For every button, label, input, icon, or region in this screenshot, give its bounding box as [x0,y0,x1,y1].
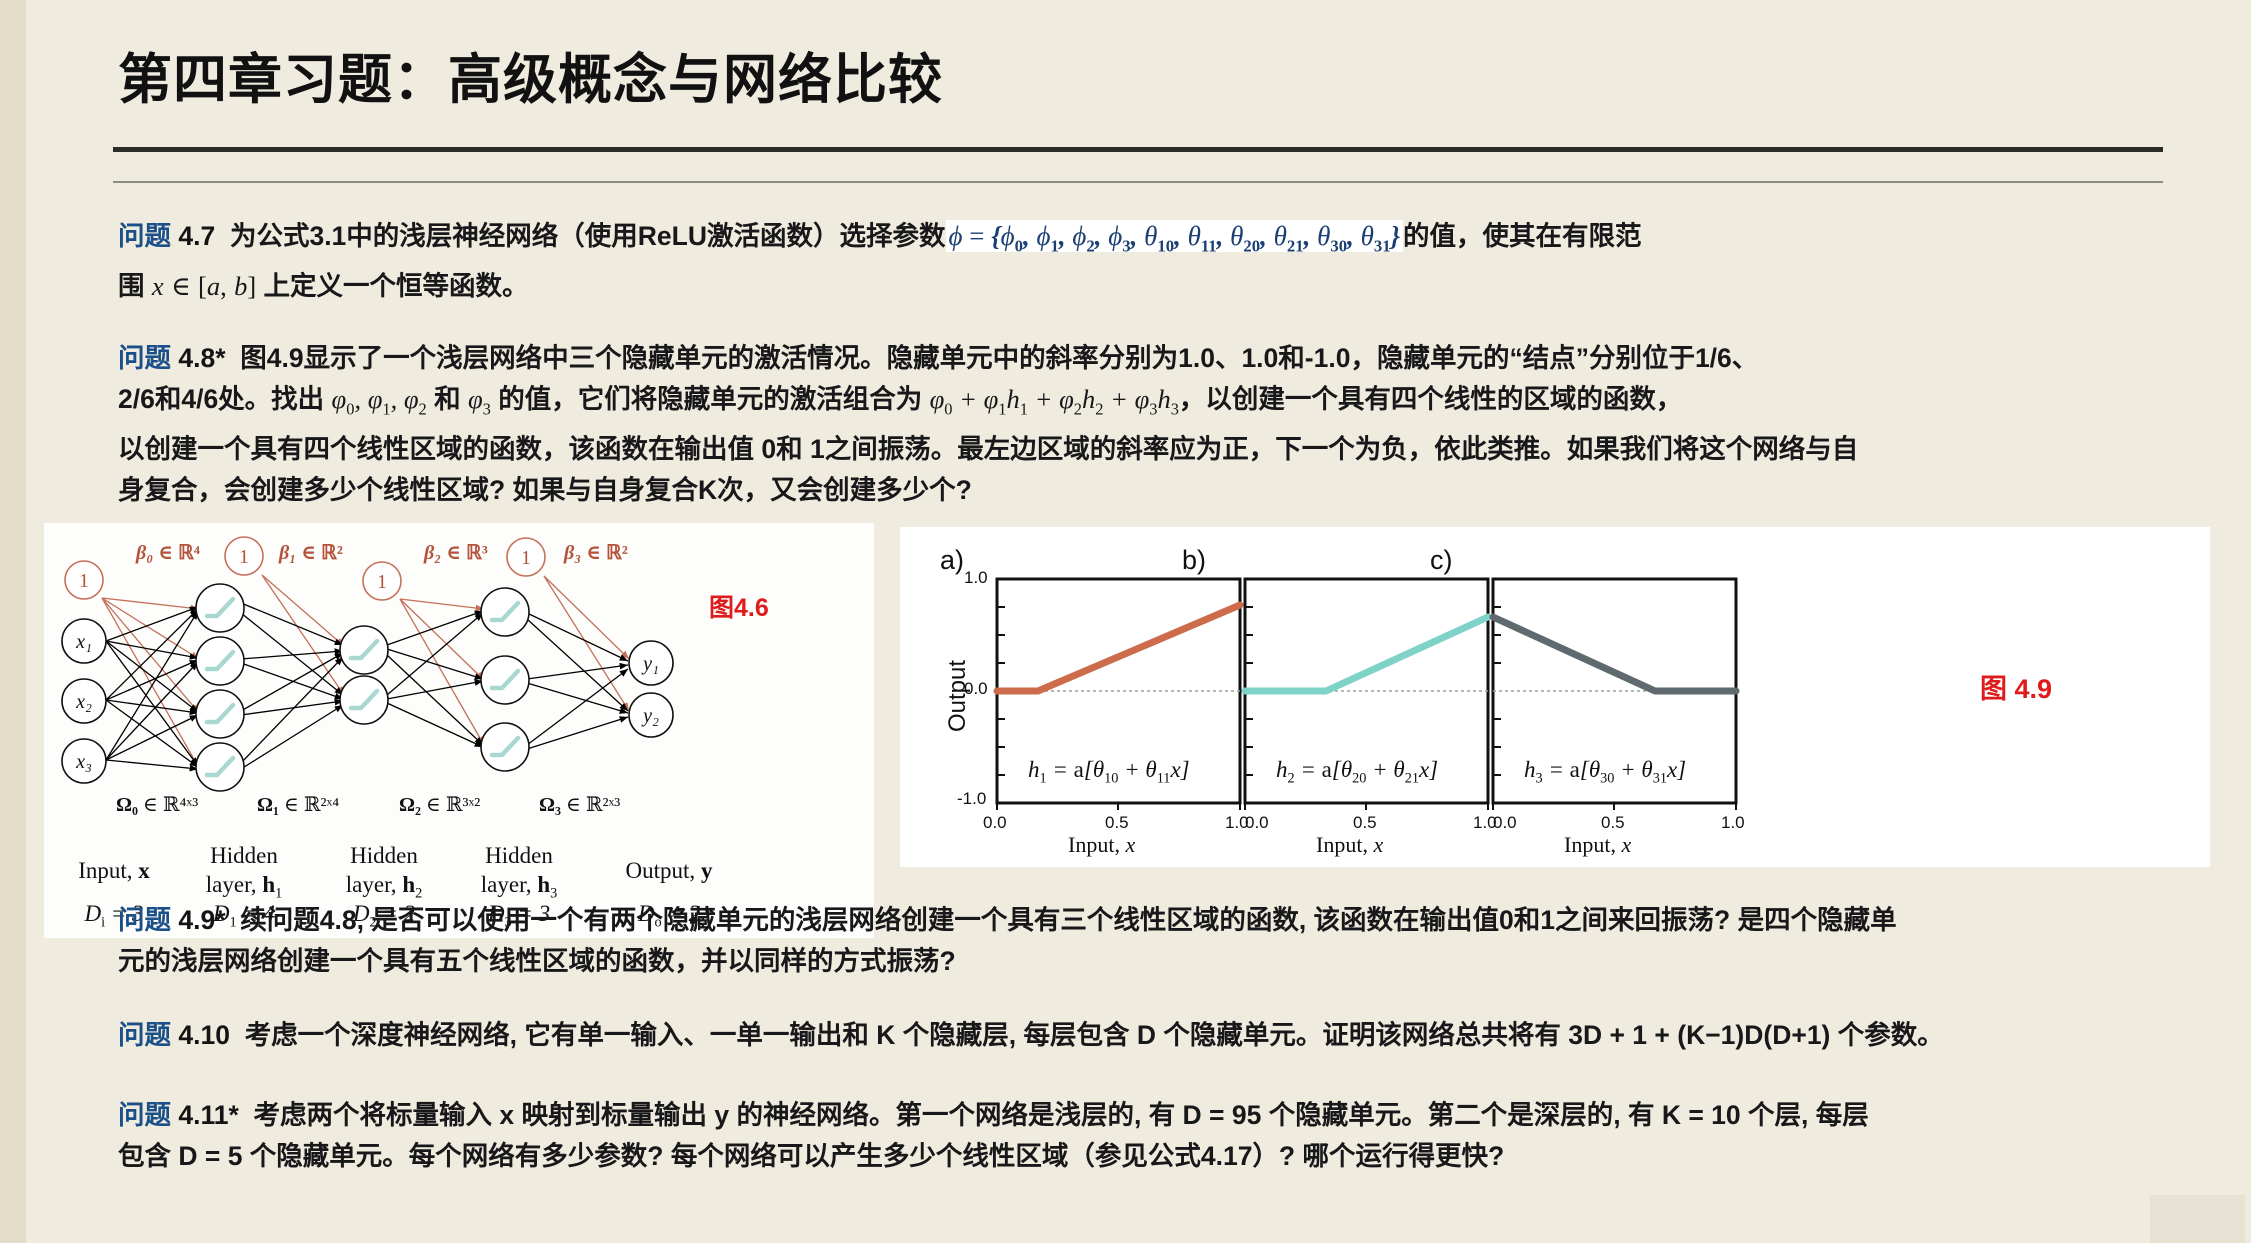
problem-4-8: 问题 4.8* 图4.9显示了一个浅层网络中三个隐藏单元的激活情况。隐藏单元中的… [118,338,2168,511]
problem-4-7-number: 4.7 [178,221,215,251]
problem-4-8-line4: 身复合，会创建多少个线性区域? 如果与自身复合K次，又会创建多少个? [118,475,972,505]
problem-4-8-math2: φ3 [468,384,491,414]
problem-4-11-tag: 问题 [118,1100,171,1130]
problem-4-8-line2b: 和 [427,384,468,414]
x-axis-label-a: Input, x [1068,832,1135,858]
problem-4-9-line2: 元的浅层网络创建一个具有五个线性区域的函数，并以同样的方式振荡? [118,946,956,976]
beta-0-label: β₀ ∈ ℝ⁴ [135,542,200,564]
figure-4-9-caption: 图 4.9 [1980,667,2052,706]
equation-h1: h1 = a[θ10 + θ11x] [1028,757,1190,788]
page-title: 第四章习题：高级概念与网络比较 [118,35,943,114]
x-tick-b-05: 0.5 [1353,813,1377,833]
output-node-y1: y₁ [641,653,659,675]
problem-4-11-number: 4.11* [178,1100,238,1130]
problem-4-7-tag: 问题 [118,221,171,251]
network-diagram-svg: 1 1 1 1 x₁ x₂ x₃ [44,523,874,853]
layer-caption-h3: Hiddenlayer, h3 [454,841,584,909]
problem-4-8-tag: 问题 [118,343,171,373]
figure-4-9: a) b) c) Output 1.0 0.0 -1.0 [900,527,2210,867]
problem-4-10-line1: 考虑一个深度神经网络, 它有单一输入、一单一输出和 K 个隐藏层, 每层包含 D… [245,1020,1944,1050]
layer-caption-h1: Hiddenlayer, h1 [179,841,309,909]
bias-node-label: 1 [239,546,249,568]
x-tick-a-05: 0.5 [1105,813,1129,833]
problem-4-8-math3: φ0 + φ1h1 + φ2h2 + φ3h3 [930,384,1179,414]
problem-4-8-line1: 图4.9显示了一个浅层网络中三个隐藏单元的激活情况。隐藏单元中的斜率分别为1.0… [240,343,1758,373]
problem-4-10: 问题 4.10 考虑一个深度神经网络, 它有单一输入、一单一输出和 K 个隐藏层… [118,1015,2178,1056]
problem-4-10-number: 4.10 [178,1020,230,1050]
left-decorative-strip [0,0,26,1243]
beta-1-label: β₁ ∈ ℝ² [278,542,343,564]
omega-1-label: Ω₁ ∈ ℝ²ˣ⁴ [257,794,339,816]
layer-caption-input: Input, x [34,856,194,885]
beta-3-label: β₃ ∈ ℝ² [563,542,628,564]
input-node-x1: x₁ [75,631,92,653]
x-axis-label-c: Input, x [1564,832,1631,858]
figure-4-6-caption: 图4.6 [709,588,769,624]
problem-4-8-number: 4.8* [178,343,225,373]
omega-3-label: Ω₃ ∈ ℝ²ˣ³ [539,794,620,816]
problem-4-9-tag: 问题 [118,905,171,935]
title-divider-thick [113,147,2163,152]
bias-node-label: 1 [79,570,89,592]
problem-4-8-line3: 以创建一个具有四个线性区域的函数，该函数在输出值 0和 1之间振荡。最左边区域的… [118,434,1858,464]
equation-h2: h2 = a[θ20 + θ21x] [1276,757,1438,788]
equation-h3: h3 = a[θ30 + θ31x] [1524,757,1686,788]
problem-4-11-line1: 考虑两个将标量输入 x 映射到标量输出 y 的神经网络。第一个网络是浅层的, 有… [254,1100,1869,1130]
problem-4-8-line2c: 的值，它们将隐藏单元的激活组合为 [491,384,930,414]
problem-4-10-tag: 问题 [118,1020,171,1050]
bias-node-label: 1 [521,547,531,569]
problem-4-7-line2: 围 x ∈ [a, b] 上定义一个恒等函数。 [118,271,529,301]
beta-2-label: β₂ ∈ ℝ³ [423,542,488,564]
omega-2-label: Ω₂ ∈ ℝ³ˣ² [399,794,480,816]
x-tick-c-10: 1.0 [1721,813,1745,833]
problem-4-8-line2a: 2/6和4/6处。找出 [118,384,332,414]
problem-4-8-line2d: ，以创建一个具有四个线性的区域的函数， [1179,384,1683,414]
problem-4-8-math1: φ0, φ1, φ2 [332,384,427,414]
problem-4-11-line2: 包含 D = 5 个隐藏单元。每个网络有多少参数? 每个网络可以产生多少个线性区… [118,1141,1504,1171]
output-node-y2: y₂ [641,705,659,727]
layer-caption-output: Output, y [589,856,749,885]
layer-caption-h2: Hiddenlayer, h2 [319,841,449,909]
x-tick-c-05: 0.5 [1601,813,1625,833]
problem-4-9-line1: 续问题4.8, 是否可以使用一个有两个隐藏单元的浅层网络创建一个具有三个线性区域… [240,905,1896,935]
problem-4-9: 问题 4.9* 续问题4.8, 是否可以使用一个有两个隐藏单元的浅层网络创建一个… [118,900,2178,982]
footer-corner-strip [2150,1195,2245,1243]
bias-node-label: 1 [377,571,387,593]
problem-4-9-number: 4.9* [178,905,225,935]
title-divider-thin [113,181,2163,183]
x-tick-a-0: 0.0 [983,813,1007,833]
input-node-x3: x₃ [75,751,92,773]
x-tick-c-0: 0.0 [1493,813,1517,833]
figure-4-6: 1 1 1 1 x₁ x₂ x₃ [44,523,874,853]
omega-0-label: Ω₀ ∈ ℝ⁴ˣ³ [116,794,198,816]
problem-4-7-line1a: 为公式3.1中的浅层神经网络（使用ReLU激活函数）选择参数 [230,221,946,251]
problem-4-7: 问题 4.7 为公式3.1中的浅层神经网络（使用ReLU激活函数）选择参数ϕ =… [118,216,2158,307]
problem-4-11: 问题 4.11* 考虑两个将标量输入 x 映射到标量输出 y 的神经网络。第一个… [118,1095,2178,1177]
problem-4-7-formula: ϕ = {ϕ0, ϕ1, ϕ2, ϕ3, θ10, θ11, θ20, θ21,… [946,220,1404,252]
problem-4-7-line1b: 的值，使其在有限范 [1403,221,1642,251]
input-node-x2: x₂ [75,691,92,713]
x-tick-b-0: 0.0 [1245,813,1269,833]
x-axis-label-b: Input, x [1316,832,1383,858]
